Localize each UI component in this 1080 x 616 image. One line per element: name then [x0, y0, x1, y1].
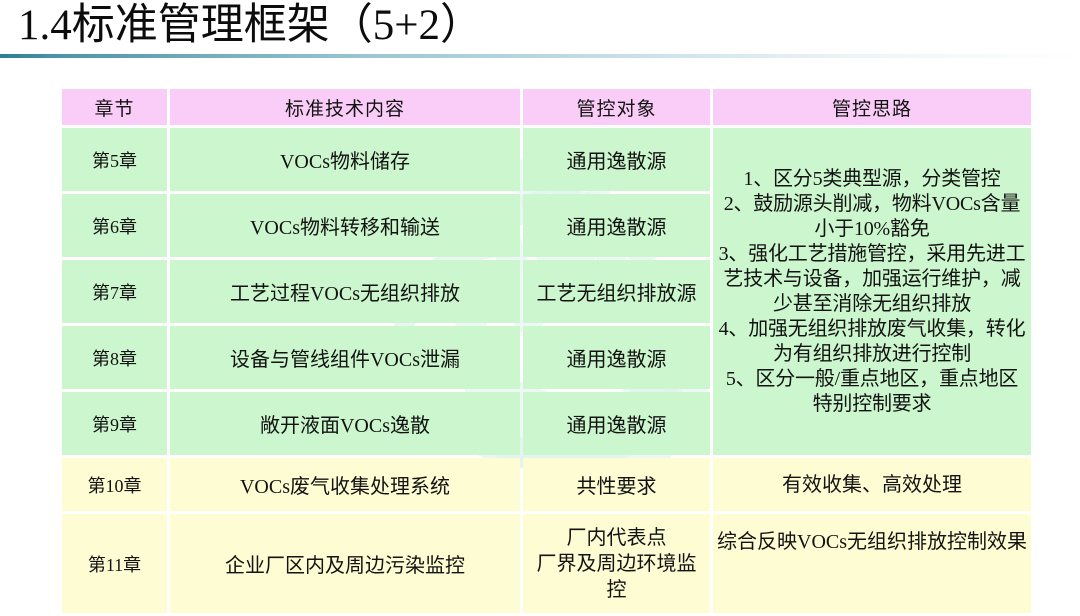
header-cell-object: 管控对象 [523, 89, 710, 125]
header-cell-chapter: 章节 [62, 89, 167, 125]
cell-content: VOCs物料转移和输送 [170, 194, 520, 257]
idea-line-1: 1、区分5类典型源，分类管控 [717, 167, 1027, 192]
table-row: 第11章 企业厂区内及周边污染监控 厂内代表点厂界及周边环境监控 综合反映VOC… [62, 514, 1031, 613]
cell-chapter: 第7章 [62, 260, 167, 323]
table-row: 第5章 VOCs物料储存 通用逸散源 1、区分5类典型源，分类管控 2、鼓励源头… [62, 128, 1031, 191]
cell-chapter: 第8章 [62, 326, 167, 389]
title-divider-rule [0, 54, 1080, 58]
cell-content: 敞开液面VOCs逸散 [170, 392, 520, 455]
cell-chapter: 第10章 [62, 458, 167, 511]
idea-line-5: 5、区分一般/重点地区，重点地区特别控制要求 [717, 367, 1027, 417]
cell-chapter: 第5章 [62, 128, 167, 191]
cell-object: 通用逸散源 [523, 128, 710, 191]
cell-content: VOCs物料储存 [170, 128, 520, 191]
cell-content: 工艺过程VOCs无组织排放 [170, 260, 520, 323]
cell-object: 通用逸散源 [523, 194, 710, 257]
slide-title-bar: 1.4标准管理框架（5+2） [0, 0, 1080, 60]
idea-line-2: 2、鼓励源头削减，物料VOCs含量小于10%豁免 [717, 192, 1027, 242]
cell-object: 共性要求 [523, 458, 710, 511]
idea-line-4: 4、加强无组织排放废气收集，转化为有组织排放进行控制 [717, 317, 1027, 367]
cell-content: VOCs废气收集处理系统 [170, 458, 520, 511]
idea-line-3: 3、强化工艺措施管控，采用先进工艺技术与设备，加强运行维护，减少甚至消除无组织排… [717, 242, 1027, 317]
cell-object: 通用逸散源 [523, 392, 710, 455]
cell-object: 工艺无组织排放源 [523, 260, 710, 323]
cell-control-ideas: 1、区分5类典型源，分类管控 2、鼓励源头削减，物料VOCs含量小于10%豁免 … [713, 128, 1031, 455]
table-header-row: 章节 标准技术内容 管控对象 管控思路 [62, 89, 1031, 125]
cell-content: 企业厂区内及周边污染监控 [170, 514, 520, 613]
cell-object: 厂内代表点厂界及周边环境监控 [523, 514, 710, 613]
cell-control-idea: 综合反映VOCs无组织排放控制效果 [713, 514, 1031, 613]
cell-chapter: 第11章 [62, 514, 167, 613]
page-title: 1.4标准管理框架（5+2） [18, 0, 483, 54]
header-cell-idea: 管控思路 [713, 89, 1031, 125]
cell-chapter: 第9章 [62, 392, 167, 455]
framework-table-container: 章节 标准技术内容 管控对象 管控思路 第5章 VOCs物料储存 通用逸散源 1… [62, 89, 1034, 613]
header-cell-content: 标准技术内容 [170, 89, 520, 125]
table-row: 第10章 VOCs废气收集处理系统 共性要求 有效收集、高效处理 [62, 458, 1031, 511]
cell-object: 通用逸散源 [523, 326, 710, 389]
cell-chapter: 第6章 [62, 194, 167, 257]
cell-control-idea: 有效收集、高效处理 [713, 458, 1031, 511]
cell-content: 设备与管线组件VOCs泄漏 [170, 326, 520, 389]
standard-framework-table: 章节 标准技术内容 管控对象 管控思路 第5章 VOCs物料储存 通用逸散源 1… [59, 86, 1034, 616]
